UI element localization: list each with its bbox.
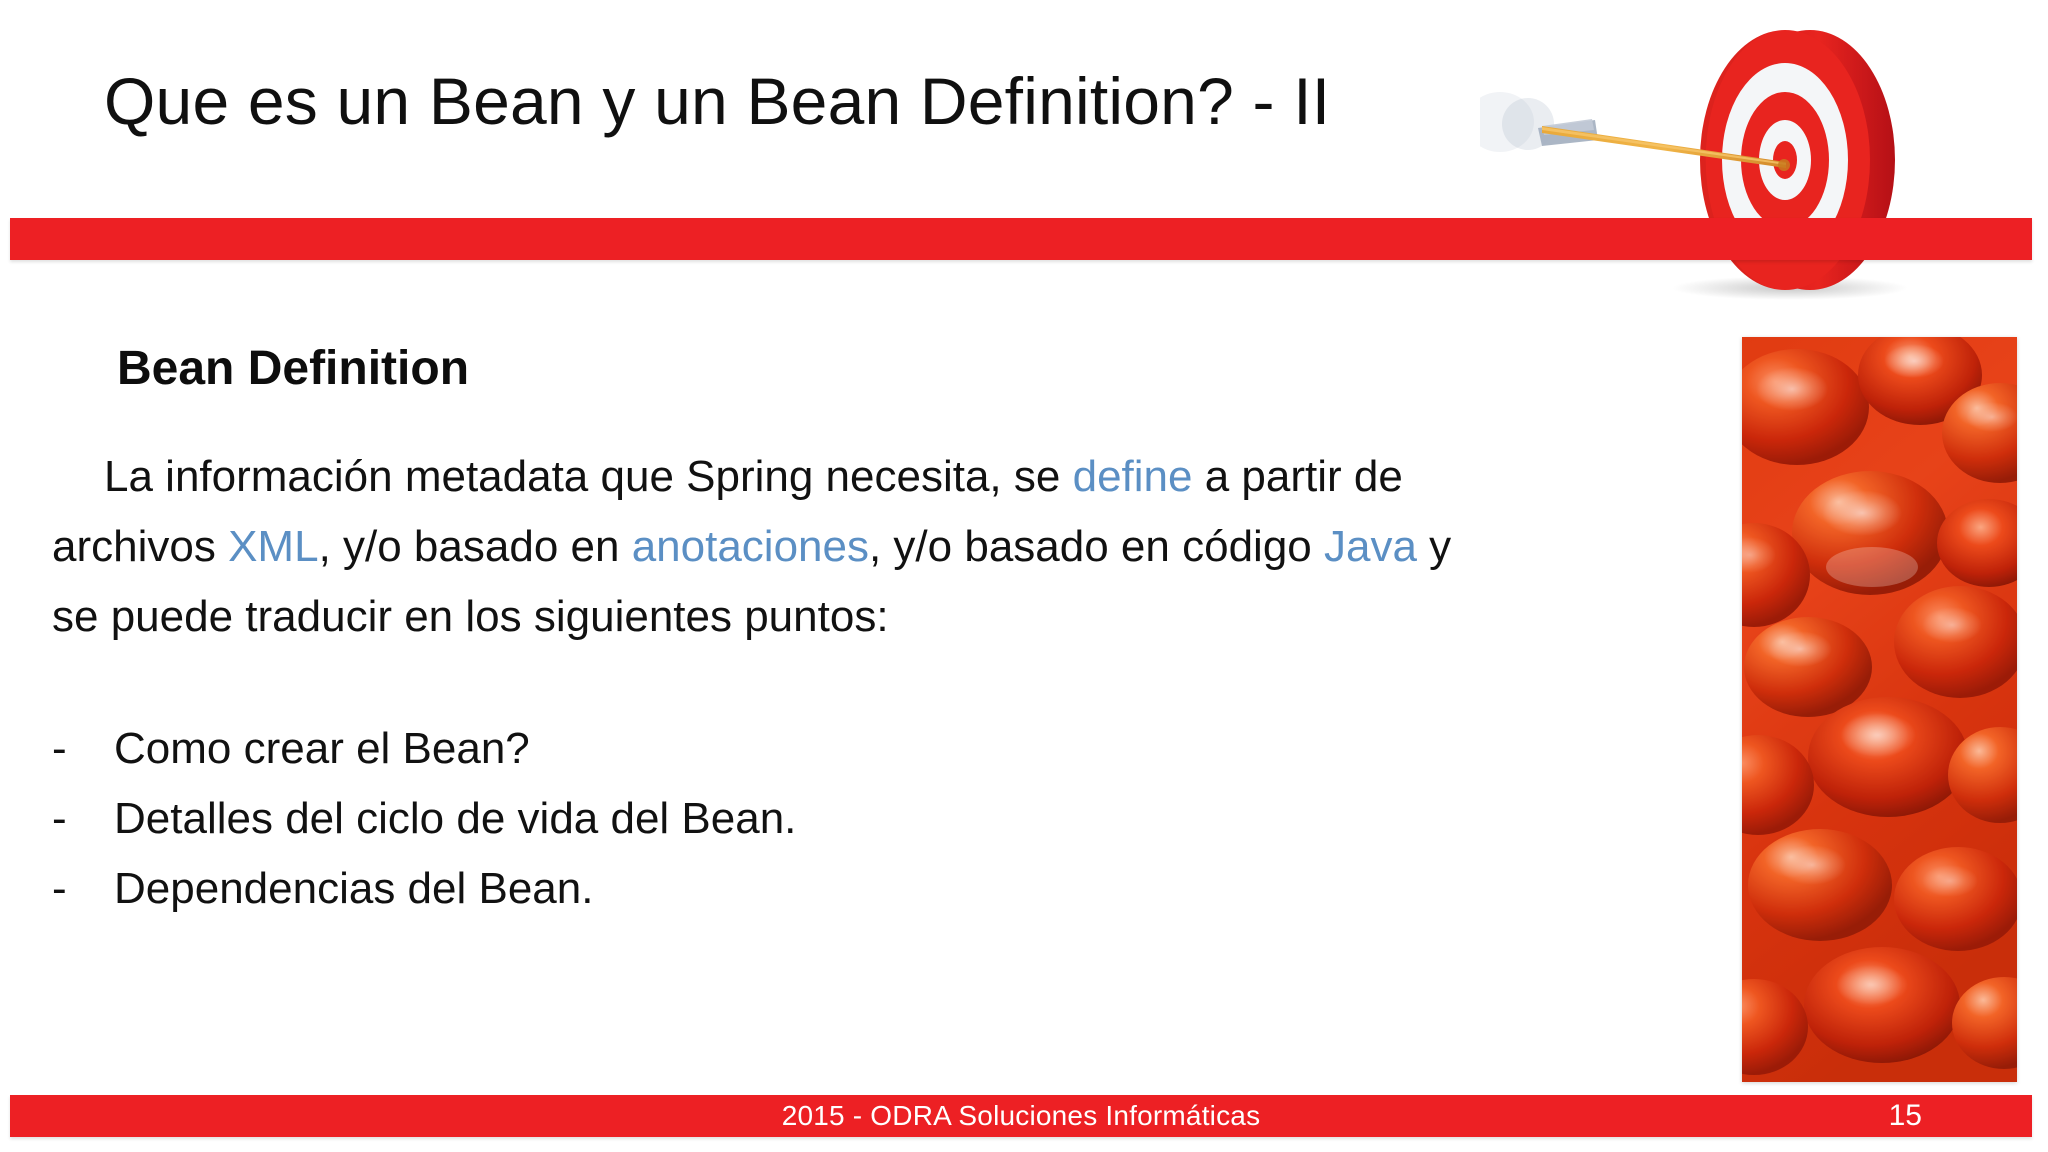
body-paragraph: La información metadata que Spring neces…: [52, 442, 1472, 652]
bullet-dash-icon: -: [52, 784, 114, 854]
keyword-anotaciones: anotaciones: [632, 522, 869, 571]
title-divider-bar: [10, 218, 2032, 260]
list-item-label: Dependencias del Bean.: [114, 854, 593, 924]
list-item: - Dependencias del Bean.: [52, 854, 1532, 924]
footer-label: 2015 - ODRA Soluciones Informáticas: [10, 1095, 2032, 1137]
list-item: - Detalles del ciclo de vida del Bean.: [52, 784, 1532, 854]
keyword-xml: XML: [228, 522, 318, 571]
slide: Que es un Bean y un Bean Definition? - I…: [0, 0, 2048, 1152]
list-item-label: Detalles del ciclo de vida del Bean.: [114, 784, 796, 854]
keyword-define: define: [1073, 452, 1193, 501]
footer-bar: 2015 - ODRA Soluciones Informáticas 15: [10, 1095, 2032, 1137]
paragraph-segment-3: , y/o basado en: [319, 522, 632, 571]
keyword-java: Java: [1324, 522, 1417, 571]
body-heading: Bean Definition: [117, 340, 1532, 398]
bullet-list: - Como crear el Bean? - Detalles del cic…: [52, 714, 1532, 924]
bullet-dash-icon: -: [52, 854, 114, 924]
page-title: Que es un Bean y un Bean Definition? - I…: [104, 62, 1524, 140]
slide-body: Bean Definition La información metadata …: [52, 340, 1532, 924]
list-item: - Como crear el Bean?: [52, 714, 1532, 784]
paragraph-segment-1: La información metadata que Spring neces…: [104, 452, 1073, 501]
bullet-dash-icon: -: [52, 714, 114, 784]
paragraph-segment-4: , y/o basado en código: [869, 522, 1324, 571]
list-item-label: Como crear el Bean?: [114, 714, 530, 784]
slide-number: 15: [1889, 1095, 1922, 1137]
red-glass-marbles-photo: [1742, 337, 2017, 1082]
